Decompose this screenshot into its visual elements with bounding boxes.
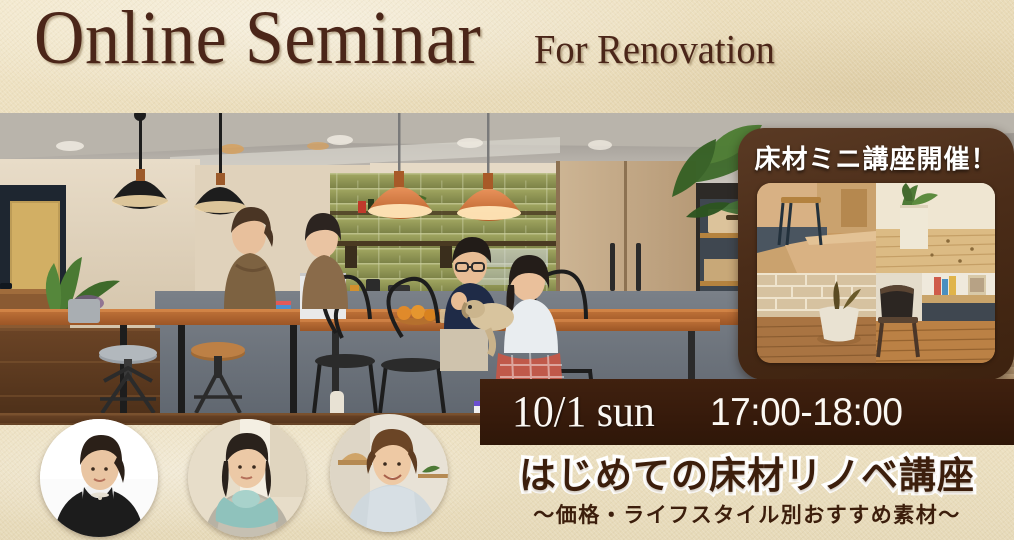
portrait-woman-3	[330, 414, 448, 532]
flooring-desk-illustration	[876, 273, 995, 363]
event-date: 10/1 sun	[512, 390, 655, 434]
mini-seminar-badge: 床材ミニ講座開催！	[738, 128, 1014, 380]
page-title: Online Seminar	[34, 0, 481, 76]
portrait-woman-1	[40, 419, 158, 537]
seminar-headline: はじめての床材リノベ講座	[519, 456, 975, 496]
banner-header: Online Seminar For Renovation	[0, 0, 1014, 114]
date-time-bar: 10/1 sun 17:00-18:00	[480, 379, 1014, 445]
badge-title: 床材ミニ講座開催！	[754, 147, 997, 173]
badge-photo-brick	[757, 273, 876, 363]
seminar-banner: Online Seminar For Renovation	[0, 0, 1014, 540]
page-subtitle: For Renovation	[534, 29, 775, 70]
portrait-3-illustration	[330, 414, 448, 532]
event-time: 17:00-18:00	[710, 393, 903, 432]
badge-photo-stairs	[757, 183, 876, 273]
flooring-pine-illustration	[876, 183, 995, 273]
badge-photo-desk	[876, 273, 995, 363]
portrait-woman-2	[188, 419, 306, 537]
badge-photo-grid	[757, 183, 995, 363]
header-title-group: Online Seminar For Renovation	[0, 0, 1014, 114]
portrait-2-illustration	[188, 419, 306, 537]
portrait-1-illustration	[40, 419, 158, 537]
badge-photo-pine	[876, 183, 995, 273]
flooring-stairs-illustration	[757, 183, 876, 273]
flooring-brick-illustration	[757, 273, 876, 363]
seminar-headline-sub: 〜価格・ライフスタイル別おすすめ素材〜	[533, 503, 961, 528]
headline-block: はじめての床材リノベ講座 〜価格・ライフスタイル別おすすめ素材〜	[480, 445, 1014, 540]
